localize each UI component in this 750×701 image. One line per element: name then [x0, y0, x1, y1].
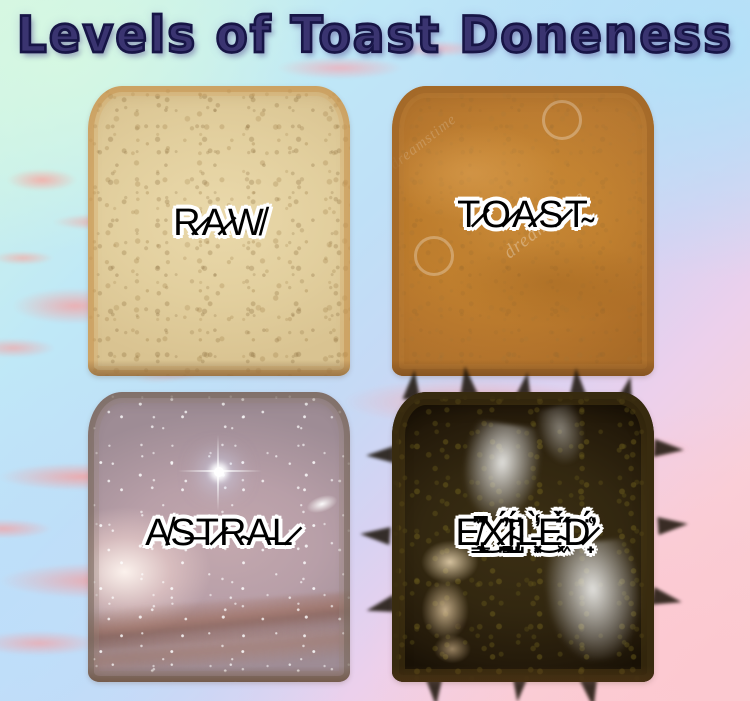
toast-panel-exiled: E̸̢̛̹̝͉͇̝̋͆̽͜X̷̪̻̘̓̈́̑̕Į̴̡̛̩̺̄̈́L̵̟͓̀̓̾͜…: [392, 392, 654, 682]
toast-panel-toast: dreamstime dreamstime T̷O̷A̷S̷T̴: [392, 86, 654, 376]
toast-panel-astral: A̸S̶T̷R̴A̵L̷: [88, 392, 350, 682]
panel-label-astral: A̸S̶T̷R̴A̵L̷: [88, 514, 350, 552]
panel-label-toast: T̷O̷A̷S̷T̴: [392, 196, 654, 234]
toast-panel-raw: R̷A̷W̸: [88, 86, 350, 376]
meme-title: Levels of Toast Doneness: [0, 6, 750, 64]
panel-label-exiled: E̸̢̛̹̝͉͇̝̋͆̽͜X̷̪̻̘̓̈́̑̕Į̴̡̛̩̺̄̈́L̵̟͓̀̓̾͜…: [392, 514, 654, 552]
panel-label-raw: R̷A̷W̸: [88, 204, 350, 242]
toast-grid: R̷A̷W̸ dreamstime dreamstime T̷O̷A̷S̷T̴: [0, 80, 750, 700]
meme-image: Levels of Toast Doneness R̷A̷W̸ dreamsti…: [0, 0, 750, 701]
